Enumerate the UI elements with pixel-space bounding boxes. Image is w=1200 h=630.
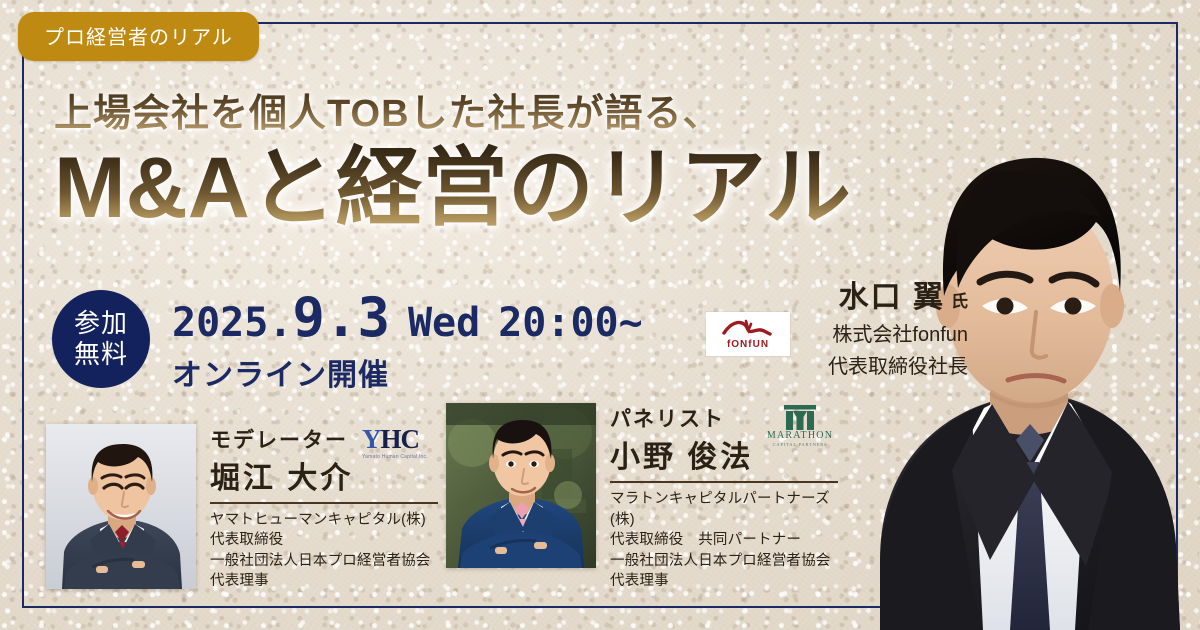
category-badge: プロ経営者のリアル [18,12,259,61]
yhc-logo-letters: YHC [362,426,438,453]
yhc-logo-tagline: Yamato Human Capital,Inc. [362,454,438,460]
headline-subtitle: 上場会社を個人TOBした社長が語る、 [54,82,851,137]
free-badge-line2: 無料 [74,339,128,370]
yhc-logo: YHC Yamato Human Capital,Inc. [362,426,438,476]
panelist-photo [446,403,596,568]
panelist-affiliation: マラトンキャピタルパートナーズ(株) 代表取締役 共同パートナー 一般社団法人日… [610,489,838,592]
moderator-divider [210,502,438,504]
speaker-card-panelist: パネリスト 小野 俊法 MARATHON CAPITAL PARTNERS マラ… [446,403,838,592]
fonfun-swoosh-icon [720,318,776,338]
moderator-affiliation-line: 代表理事 [210,571,438,592]
main-speaker-name-suffix: 氏 [951,292,968,311]
event-format: オンライン開催 [172,350,643,394]
moderator-photo [46,424,196,589]
panelist-affiliation-line: 一般社団法人日本プロ経営者協会 [610,551,838,572]
fonfun-logo-text: fONfUN [727,339,769,350]
moderator-affiliation: ヤマトヒューマンキャピタル(株) 代表取締役 一般社団法人日本プロ経営者協会 代… [210,510,438,592]
fonfun-logo: fONfUN [706,312,790,356]
panelist-affiliation-line: 代表理事 [610,571,838,592]
main-speaker-name-text: 水口 翼 [839,281,945,314]
yhc-logo-y: Y [362,424,381,454]
marathon-logo-word: MARATHON [762,431,838,441]
marathon-logo: MARATHON CAPITAL PARTNERS [762,405,838,455]
moderator-affiliation-line: ヤマトヒューマンキャピタル(株) [210,510,438,531]
panelist-divider [610,481,838,483]
main-speaker-title: 代表取締役社長 [718,354,968,380]
event-year: 2025. [172,300,292,346]
headline-title: M&Aと経営のリアル [54,143,851,233]
panelist-affiliation-line: 代表取締役 共同パートナー [610,530,838,551]
free-badge-line1: 参加 [74,308,128,339]
moderator-affiliation-line: 代表取締役 [210,530,438,551]
main-speaker-info: 水口 翼氏 株式会社fonfun 代表取締役社長 fONfUN [718,272,968,381]
event-time: 20:00~ [498,300,643,346]
event-month-day: 9.3 [292,294,390,343]
event-schedule-block: 参加 無料 2025.9.3Wed20:00~ オンライン開催 [52,290,643,394]
date-time-block: 2025.9.3Wed20:00~ オンライン開催 [172,290,643,394]
marathon-logo-tagline: CAPITAL PARTNERS [762,442,838,447]
main-speaker-name: 水口 翼氏 [718,272,968,316]
speaker-card-moderator: モデレーター 堀江 大介 YHC Yamato Human Capital,In… [46,424,438,592]
yhc-logo-hc: HC [381,424,420,454]
moderator-info: モデレーター 堀江 大介 YHC Yamato Human Capital,In… [210,424,438,592]
panelist-info: パネリスト 小野 俊法 MARATHON CAPITAL PARTNERS マラ… [610,403,838,592]
panelist-affiliation-line: マラトンキャピタルパートナーズ(株) [610,489,838,530]
marathon-pillar-icon [780,405,820,431]
event-date-line: 2025.9.3Wed20:00~ [172,294,643,346]
headline-block: 上場会社を個人TOBした社長が語る、 M&Aと経営のリアル [54,82,851,233]
event-weekday: Wed [408,300,480,346]
free-admission-badge: 参加 無料 [52,290,150,388]
moderator-affiliation-line: 一般社団法人日本プロ経営者協会 [210,551,438,572]
